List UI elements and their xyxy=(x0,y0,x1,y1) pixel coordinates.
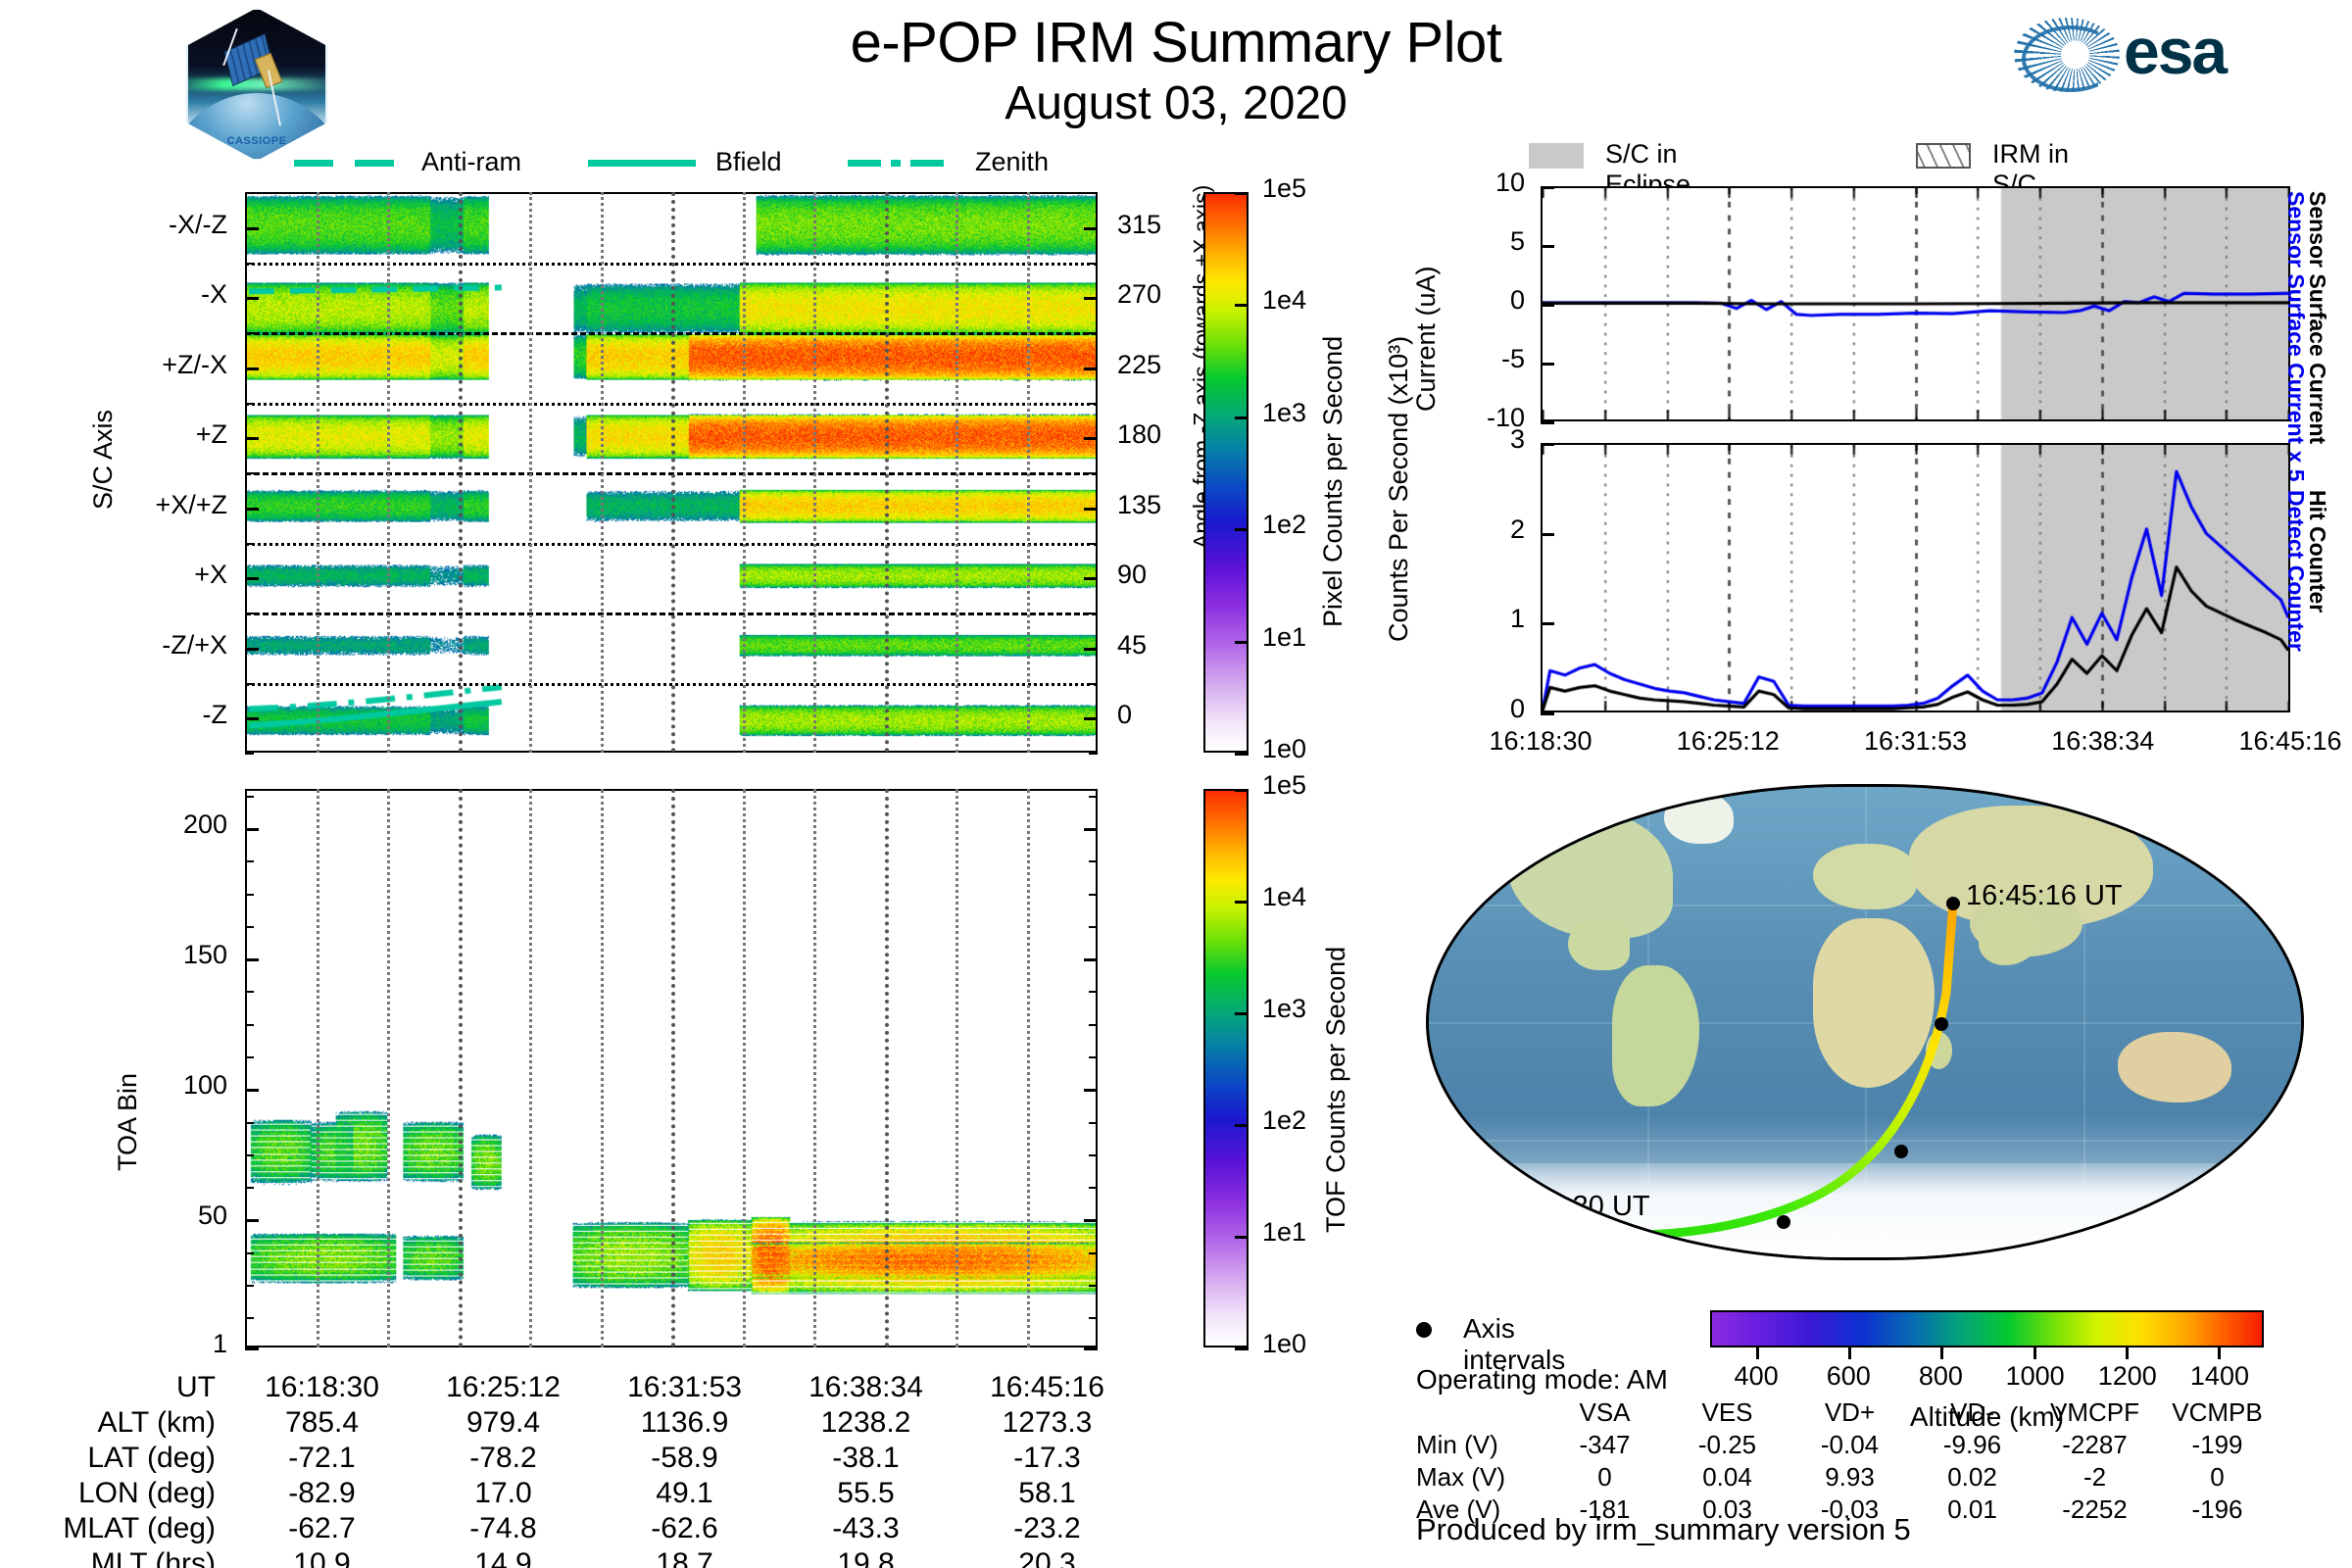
voltage-cell: -2 xyxy=(2033,1461,2156,1494)
ephemeris-cell: 16:45:16 xyxy=(956,1370,1138,1405)
counts-per-second-canvas xyxy=(1543,445,2288,710)
voltage-row-label: Min (V) xyxy=(1416,1429,1543,1461)
dot-icon xyxy=(1416,1322,1432,1338)
current-ytick-2: 0 xyxy=(1510,285,1525,316)
hatch-swatch-icon xyxy=(1916,143,1971,169)
dashdot-line-icon xyxy=(848,160,955,167)
tof-cbar-tick-2: 1e2 xyxy=(1262,1105,1306,1136)
sc-angle-ytick-2: 225 xyxy=(1117,350,1161,380)
ephemeris-cell: 55.5 xyxy=(775,1476,956,1511)
pixel-cbar-tick-3: 1e3 xyxy=(1262,398,1306,428)
ephemeris-cell: 979.4 xyxy=(413,1405,594,1441)
pixel-counts-colorbar xyxy=(1203,192,1249,753)
sensor-current-canvas xyxy=(1543,188,2288,419)
ephemeris-cell: 20.3 xyxy=(956,1546,1138,1568)
tof-cbar-tick-4: 1e4 xyxy=(1262,882,1306,912)
ephemeris-row: ALT (km)785.4979.41136.91238.21273.3 xyxy=(20,1405,1138,1441)
time-xtick-1: 16:25:12 xyxy=(1640,726,1816,757)
ephemeris-cell: -23.2 xyxy=(956,1511,1138,1546)
toa-ytick-3: 150 xyxy=(183,940,227,970)
ephemeris-row: LAT (deg)-72.1-78.2-58.9-38.1-17.3 xyxy=(20,1441,1138,1476)
ephemeris-cell: -74.8 xyxy=(413,1511,594,1546)
track-point-start xyxy=(1476,1206,1490,1220)
ephemeris-cell: 16:18:30 xyxy=(231,1370,413,1405)
ephemeris-table: UT16:18:3016:25:1216:31:5316:38:3416:45:… xyxy=(20,1370,1138,1568)
voltage-cell: -9.96 xyxy=(1911,1429,2033,1461)
voltage-cell: 9.93 xyxy=(1788,1461,1911,1494)
ephemeris-cell: -78.2 xyxy=(413,1441,594,1476)
voltage-cell: -196 xyxy=(2156,1494,2278,1526)
cassiope-mission-badge: CASSIOPE xyxy=(186,8,323,157)
operating-mode-label: Operating mode: AM xyxy=(1416,1364,1668,1396)
ephemeris-row: UT16:18:3016:25:1216:31:5316:38:3416:45:… xyxy=(20,1370,1138,1405)
ephemeris-cell: 17.0 xyxy=(413,1476,594,1511)
ephemeris-cell: 14.9 xyxy=(413,1546,594,1568)
ephemeris-cell: -38.1 xyxy=(775,1441,956,1476)
voltage-column-header: VCMPB xyxy=(2156,1396,2278,1429)
voltage-cell: 0.04 xyxy=(1666,1461,1788,1494)
ephemeris-row: MLT (hrs)10.914.918.719.820.3 xyxy=(20,1546,1138,1568)
ephemeris-row-label: UT xyxy=(20,1370,231,1405)
produced-by-footer: Produced by irm_summary version 5 xyxy=(1416,1512,1911,1547)
track-point-3 xyxy=(1894,1145,1908,1158)
eclipse-legend: S/C in Eclipse IRM in S/C Shadow xyxy=(1529,139,2352,174)
tof-cbar-tick-5: 1e5 xyxy=(1262,770,1306,801)
ephemeris-row-label: MLAT (deg) xyxy=(20,1511,231,1546)
sensor-current-plot[interactable] xyxy=(1541,186,2290,421)
legend-label-bfield: Bfield xyxy=(715,147,782,177)
ephemeris-cell: -62.6 xyxy=(594,1511,775,1546)
voltage-header-corner xyxy=(1416,1396,1543,1429)
toa-ytick-2: 100 xyxy=(183,1070,227,1101)
counts-ytick-2: 2 xyxy=(1510,514,1525,545)
voltage-column-header: VES xyxy=(1666,1396,1788,1429)
ephemeris-cell: 10.9 xyxy=(231,1546,413,1568)
counts-per-second-plot[interactable] xyxy=(1541,443,2290,712)
tof-counts-colorbar xyxy=(1203,789,1249,1347)
voltage-column-header: VSA xyxy=(1543,1396,1666,1429)
axis-overlay-legend: Anti-ram Bfield Zenith xyxy=(265,147,1078,180)
ephemeris-cell: 19.8 xyxy=(775,1546,956,1568)
ephemeris-cell: 16:38:34 xyxy=(775,1370,956,1405)
esa-logo: esa xyxy=(2014,10,2308,100)
time-xtick-0: 16:18:30 xyxy=(1452,726,1629,757)
voltage-cell: 0.02 xyxy=(1911,1461,2033,1494)
ephemeris-row: MLAT (deg)-62.7-74.8-62.6-43.3-23.2 xyxy=(20,1511,1138,1546)
counts-ylabel-text: Counts Per Second (x10³) xyxy=(1384,336,1413,642)
voltage-column-header: VMCPF xyxy=(2033,1396,2156,1429)
voltage-cell: 0 xyxy=(1543,1461,1666,1494)
dashed-line-icon xyxy=(294,160,402,167)
current-ytick-4: 10 xyxy=(1495,168,1525,198)
voltage-cell: 0.01 xyxy=(1911,1494,2033,1526)
voltage-cell: -2287 xyxy=(2033,1429,2156,1461)
ephemeris-row-label: ALT (km) xyxy=(20,1405,231,1441)
ephemeris-row: LON (deg)-82.917.049.155.558.1 xyxy=(20,1476,1138,1511)
ephemeris-cell: 1136.9 xyxy=(594,1405,775,1441)
ephemeris-cell: -58.9 xyxy=(594,1441,775,1476)
sc-angle-ytick-3: 180 xyxy=(1117,419,1161,450)
sc-axis-ytick-7: -Z xyxy=(203,700,227,730)
ephemeris-cell: -62.7 xyxy=(231,1511,413,1546)
ephemeris-cell: -43.3 xyxy=(775,1511,956,1546)
voltage-column-header: VD+ xyxy=(1788,1396,1911,1429)
toa-ytick-4: 200 xyxy=(183,809,227,840)
summary-plot-page: e-POP IRM Summary Plot August 03, 2020 C… xyxy=(0,0,2352,1568)
sc-angle-ytick-5: 90 xyxy=(1117,560,1147,590)
sc-axis-ytick-1: -X xyxy=(201,279,227,310)
track-point-end xyxy=(1946,897,1960,910)
pixel-cbar-tick-4: 1e4 xyxy=(1262,285,1306,316)
voltage-cell: -347 xyxy=(1543,1429,1666,1461)
time-xtick-4: 16:45:16 xyxy=(2202,726,2352,757)
ephemeris-cell: 18.7 xyxy=(594,1546,775,1568)
pixel-cbar-tick-2: 1e2 xyxy=(1262,510,1306,540)
ephemeris-cell: 49.1 xyxy=(594,1476,775,1511)
sc-axis-ytick-0: -X/-Z xyxy=(169,210,227,240)
sc-axis-ytick-2: +Z/-X xyxy=(162,350,227,380)
tof-cbar-tick-1: 1e1 xyxy=(1262,1217,1306,1248)
page-title: e-POP IRM Summary Plot xyxy=(0,10,2352,75)
ephemeris-cell: 16:31:53 xyxy=(594,1370,775,1405)
altitude-tick-4: 1200 xyxy=(2098,1361,2153,1392)
voltage-cell: -199 xyxy=(2156,1429,2278,1461)
map-end-time-label: 16:45:16 UT xyxy=(1966,880,2123,912)
ephemeris-cell: -82.9 xyxy=(231,1476,413,1511)
ephemeris-row-label: LAT (deg) xyxy=(20,1441,231,1476)
altitude-tick-1: 600 xyxy=(1821,1361,1876,1392)
voltage-cell: 0 xyxy=(2156,1461,2278,1494)
altitude-tick-0: 400 xyxy=(1729,1361,1784,1392)
sc-angle-ytick-1: 270 xyxy=(1117,279,1161,310)
ephemeris-cell: -72.1 xyxy=(231,1441,413,1476)
track-point-4 xyxy=(1935,1017,1948,1031)
current-right-label-black: Sensor Surface Current xyxy=(2304,191,2330,444)
track-point-2 xyxy=(1777,1215,1790,1229)
sc-angle-ytick-0: 315 xyxy=(1117,210,1161,240)
pixel-cbar-tick-5: 1e5 xyxy=(1262,173,1306,204)
altitude-tick-2: 800 xyxy=(1913,1361,1968,1392)
altitude-tick-3: 1000 xyxy=(2006,1361,2061,1392)
counts-ylabel-line1: Counts Per Second (x10³) xyxy=(1384,336,1414,642)
altitude-colorbar xyxy=(1710,1310,2264,1347)
voltage-row-label: Max (V) xyxy=(1416,1461,1543,1494)
pixel-cbar-tick-0: 1e0 xyxy=(1262,734,1306,764)
sc-angle-ytick-4: 135 xyxy=(1117,490,1161,520)
esa-wordmark: esa xyxy=(2124,14,2226,88)
voltage-cell: -0.04 xyxy=(1788,1429,1911,1461)
tof-cbar-tick-0: 1e0 xyxy=(1262,1329,1306,1359)
gray-swatch-icon xyxy=(1529,143,1584,169)
toa-bin-ylabel: TOA Bin xyxy=(113,1073,143,1171)
counts-right-label-black: Hit Counter xyxy=(2304,490,2330,612)
sc-axis-ytick-6: -Z/+X xyxy=(162,630,227,661)
tof-counts-colorbar-title: TOF Counts per Second xyxy=(1321,947,1351,1233)
altitude-tick-5: 1400 xyxy=(2190,1361,2245,1392)
counts-ytick-0: 0 xyxy=(1510,694,1525,724)
voltage-cell: -2252 xyxy=(2033,1494,2156,1526)
time-xtick-2: 16:31:53 xyxy=(1828,726,2004,757)
ground-track-map[interactable]: 16:18:30 UT 16:45:16 UT xyxy=(1426,784,2304,1260)
voltage-table: VSAVESVD+VD-VMCPFVCMPBMin (V)-347-0.25-0… xyxy=(1416,1396,2278,1526)
tof-cbar-tick-3: 1e3 xyxy=(1262,994,1306,1024)
legend-label-anti-ram: Anti-ram xyxy=(421,147,521,177)
sc-axis-ytick-5: +X xyxy=(194,560,227,590)
ephemeris-cell: 58.1 xyxy=(956,1476,1138,1511)
ephemeris-cell: 785.4 xyxy=(231,1405,413,1441)
ephemeris-cell: 16:25:12 xyxy=(413,1370,594,1405)
sc-axis-ytick-3: +Z xyxy=(196,419,227,450)
sc-axis-ylabel: S/C Axis xyxy=(88,410,119,510)
sc-angle-ytick-7: 0 xyxy=(1117,700,1132,730)
current-ytick-3: 5 xyxy=(1510,226,1525,257)
voltage-row: Max (V)00.049.930.02-20 xyxy=(1416,1461,2278,1494)
counts-ytick-1: 1 xyxy=(1510,604,1525,634)
toa-ytick-1: 50 xyxy=(198,1200,227,1231)
voltage-row: Min (V)-347-0.25-0.04-9.96-2287-199 xyxy=(1416,1429,2278,1461)
solid-line-icon xyxy=(588,160,696,167)
counts-ytick-3: 3 xyxy=(1510,424,1525,455)
page-date: August 03, 2020 xyxy=(0,76,2352,130)
sc-angle-ytick-6: 45 xyxy=(1117,630,1147,661)
pixel-counts-colorbar-title: Pixel Counts per Second xyxy=(1318,336,1348,627)
map-start-time-label: 16:18:30 UT xyxy=(1494,1191,1650,1223)
orbit-ground-track xyxy=(1429,787,2301,1257)
current-ytick-1: -5 xyxy=(1501,344,1525,374)
ephemeris-row-label: MLT (hrs) xyxy=(20,1546,231,1568)
toa-ytick-0: 1 xyxy=(213,1329,227,1359)
badge-label: CASSIOPE xyxy=(188,135,325,147)
voltage-header-row: VSAVESVD+VD-VMCPFVCMPB xyxy=(1416,1396,2278,1429)
sc-axis-ytick-4: +X/+Z xyxy=(155,490,227,520)
pixel-cbar-tick-1: 1e1 xyxy=(1262,622,1306,653)
ephemeris-cell: -17.3 xyxy=(956,1441,1138,1476)
ephemeris-cell: 1238.2 xyxy=(775,1405,956,1441)
ephemeris-row-label: LON (deg) xyxy=(20,1476,231,1511)
time-xtick-3: 16:38:34 xyxy=(2015,726,2191,757)
voltage-cell: -0.25 xyxy=(1666,1429,1788,1461)
voltage-column-header: VD- xyxy=(1911,1396,2033,1429)
legend-label-zenith: Zenith xyxy=(975,147,1049,177)
current-ylabel: Current (uA) xyxy=(1411,266,1442,412)
ephemeris-cell: 1273.3 xyxy=(956,1405,1138,1441)
